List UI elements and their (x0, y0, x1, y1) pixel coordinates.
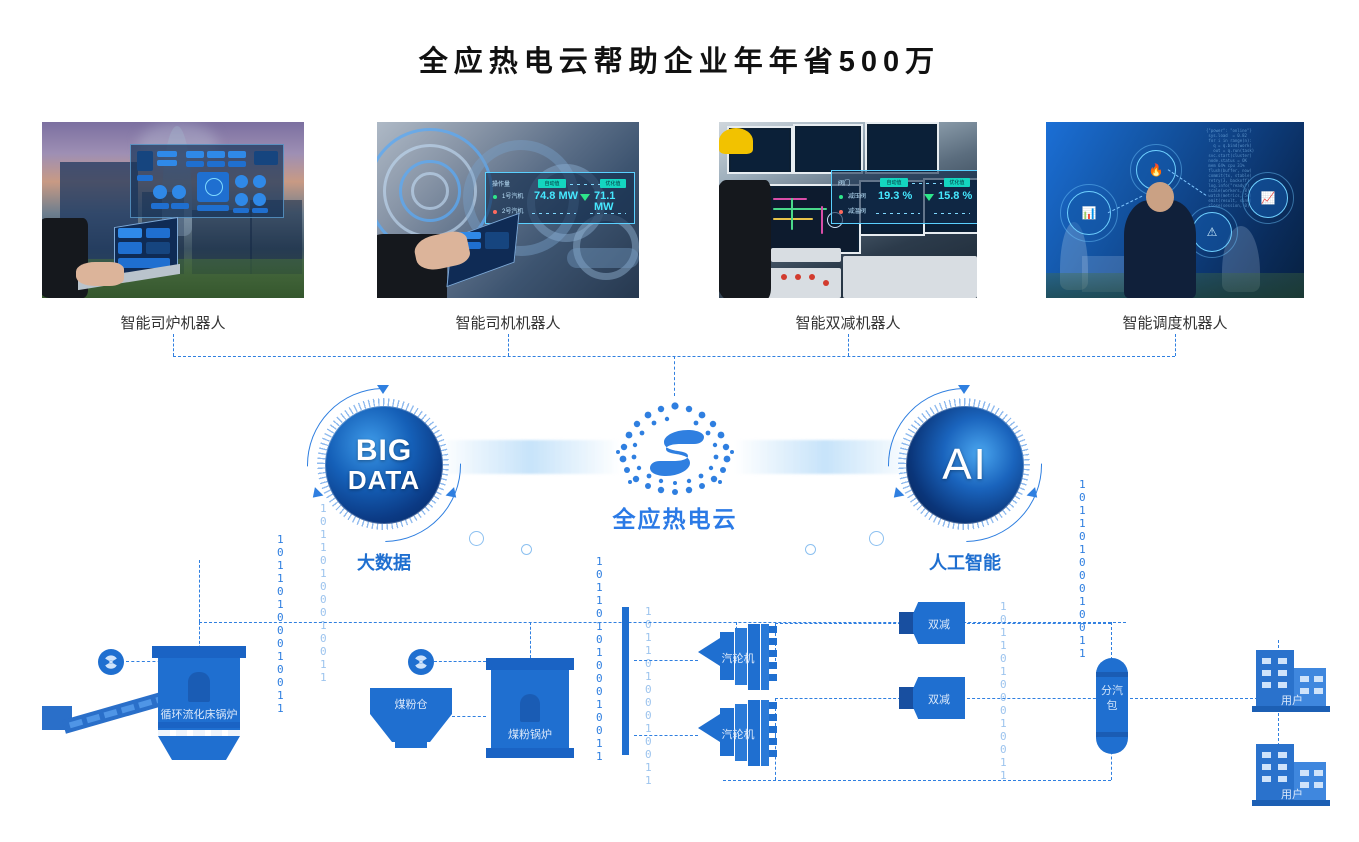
thumbnail-card-4[interactable]: {"power": "online"} sys.load = 0.82 for … (1046, 122, 1304, 298)
connector-thumb4-drop (1175, 334, 1176, 356)
user-2-label: 用户 (1270, 786, 1314, 802)
connector-bus-to-cloud (674, 356, 675, 396)
trend-down-icon (924, 194, 934, 201)
thumb2-col-auto: 自动值 (538, 179, 566, 188)
pc-boiler[interactable]: 煤粉锅炉 (486, 658, 574, 758)
thumb3-col-auto: 自动值 (880, 178, 908, 187)
thumb1-overlay-panel (130, 144, 284, 218)
thumb2-row1-opt: 71.1 MW (594, 191, 634, 213)
decor-circle-1 (469, 531, 484, 546)
cloud-dots-icon (604, 400, 746, 502)
thumb2-row-header: 操作量 (492, 182, 510, 188)
photo-control-room: 阀门 自动值 优化值 减压阀 19.3 % 15.8 % 减温阀 (719, 122, 977, 298)
ai-orb: AI (906, 406, 1024, 524)
coal-bunker[interactable]: 煤粉仓 (370, 688, 452, 748)
decor-circle-2 (521, 544, 532, 555)
thumbnail-card-1[interactable] (42, 122, 304, 298)
coal-bunker-label: 煤粉仓 (370, 696, 452, 712)
cloud-logo[interactable] (604, 400, 746, 502)
node-alarm-icon: ⚠ (1192, 212, 1232, 252)
node-analysis-icon: 📊 (1067, 191, 1111, 235)
ai-module[interactable]: AI (888, 388, 1042, 542)
big-data-caption: 大数据 (284, 549, 484, 575)
connector-header-turbine1 (634, 660, 698, 661)
connector-header-turbine2 (634, 735, 698, 736)
connector-thumb3-drop (848, 334, 849, 356)
sensor-icon-pc (408, 649, 434, 675)
user-1-label: 用户 (1270, 692, 1314, 708)
binary-stream-mid-a: 1 0 1 1 0 1 0 1 0 0 0 1 0 0 1 1 (596, 555, 603, 763)
photo-executive-dashboard: {"power": "online"} sys.load = 0.82 for … (1046, 122, 1304, 298)
big-data-line2: DATA (348, 467, 420, 494)
reducer-1[interactable]: 双减 (899, 602, 965, 644)
thumb3-row1-name: 减压阀 (848, 194, 866, 200)
user-building-2[interactable]: 用户 (1252, 744, 1330, 806)
thumbnail-caption-1: 智能司炉机器人 (23, 312, 323, 333)
decor-circle-3 (805, 544, 816, 555)
connector-thumb2-drop (508, 334, 509, 356)
binary-stream-right-b: 1 0 1 1 0 1 0 0 0 1 0 0 1 1 (1000, 600, 1007, 782)
thumbnail-caption-4: 智能调度机器人 (1025, 312, 1325, 333)
turbine-2[interactable]: 汽轮机 (698, 700, 778, 772)
page-title: 全应热电云帮助企业年年省500万 (0, 38, 1359, 80)
thumbnail-card-2[interactable]: 操作量 自动值 优化值 1号汽机 74.8 MW 71.1 MW 2号汽机 (377, 122, 639, 298)
thumb3-overlay-panel: 阀门 自动值 优化值 减压阀 19.3 % 15.8 % 减温阀 (831, 170, 977, 224)
ai-line1: AI (942, 440, 988, 490)
decor-circle-4 (869, 531, 884, 546)
ai-caption: 人工智能 (865, 549, 1065, 575)
sensor-icon-cfb (98, 649, 124, 675)
turbine-1-label: 汽轮机 (716, 650, 760, 666)
pc-boiler-label: 煤粉锅炉 (486, 726, 574, 742)
big-data-line1: BIG (356, 436, 412, 467)
steam-drum-label: 分汽包 (1096, 684, 1128, 714)
infographic-canvas: 全应热电云帮助企业年年省500万 (0, 0, 1359, 842)
connector-bigdata-down (199, 560, 200, 622)
thumb3-row-header: 阀门 (838, 181, 850, 187)
safety-helmet-icon (719, 128, 753, 154)
reducer-1-label: 双减 (913, 616, 965, 632)
photo-power-plant-engineer (42, 122, 304, 298)
connector-turbine1-reducer1 (775, 623, 901, 624)
thumb3-row2-name: 减温阀 (848, 209, 866, 215)
binary-stream-left-a: 1 0 1 1 0 1 0 0 0 1 0 0 1 1 (277, 533, 284, 715)
marker-top (958, 385, 970, 394)
thumb3-row1-opt: 15.8 % (938, 191, 972, 202)
thumb2-row1-auto: 74.8 MW (534, 191, 578, 202)
reducer-2-label: 双减 (913, 691, 965, 707)
hand-shape (76, 262, 124, 286)
connector-drum-up (1111, 622, 1112, 660)
cloud-caption: 全应热电云 (545, 500, 805, 534)
connector-sensor-pc (434, 661, 486, 662)
connector-reducer1-drum (962, 623, 1111, 624)
turbine-1[interactable]: 汽轮机 (698, 624, 778, 696)
connector-turbine2-reducer2 (775, 698, 901, 699)
steam-header-bar (622, 607, 629, 755)
beam-left (440, 440, 620, 474)
binary-stream-mid-b: 1 0 1 1 0 1 0 0 0 1 0 0 1 1 (645, 605, 652, 787)
turbine-2-label: 汽轮机 (716, 726, 760, 742)
person-silhouette (1124, 200, 1196, 298)
thumbnail-card-3[interactable]: 阀门 自动值 优化值 减压阀 19.3 % 15.8 % 减温阀 (719, 122, 977, 298)
radiation-icon (413, 654, 429, 670)
thumb3-col-opt: 优化值 (944, 178, 970, 187)
connector-bunker-boiler (452, 716, 486, 717)
binary-stream-right-a: 1 0 1 1 0 1 0 0 0 1 0 0 1 1 (1079, 478, 1086, 660)
connector-lower-return (723, 780, 1111, 781)
connector-pcboiler-up (530, 622, 531, 658)
marker-top (377, 385, 389, 394)
big-data-module[interactable]: BIG DATA (307, 388, 461, 542)
steam-drum[interactable]: 分汽包 (1096, 658, 1128, 754)
thumb3-row1-auto: 19.3 % (878, 191, 912, 202)
connector-thumb1-drop (173, 334, 174, 356)
trend-down-icon (580, 194, 590, 201)
big-data-orb: BIG DATA (325, 406, 443, 524)
cfb-boiler[interactable]: 循环流化床锅炉 (152, 646, 246, 760)
thumb2-row1-name: 1号汽机 (502, 194, 523, 200)
binary-stream-left-b: 1 0 1 1 0 1 0 0 0 1 0 0 1 1 (320, 502, 327, 684)
thumbnail-caption-2: 智能司机机器人 (358, 312, 658, 333)
node-report-icon: 📈 (1248, 178, 1288, 218)
connector-reducer2-drum (962, 698, 1111, 699)
photo-turbine-tablet: 操作量 自动值 优化值 1号汽机 74.8 MW 71.1 MW 2号汽机 (377, 122, 639, 298)
thumb2-col-opt: 优化值 (600, 179, 626, 188)
radiation-icon (103, 654, 119, 670)
cfb-boiler-label: 循环流化床锅炉 (150, 706, 248, 722)
user-building-1[interactable]: 用户 (1252, 650, 1330, 712)
thumbnail-caption-3: 智能双减机器人 (698, 312, 998, 333)
reducer-2[interactable]: 双减 (899, 677, 965, 719)
